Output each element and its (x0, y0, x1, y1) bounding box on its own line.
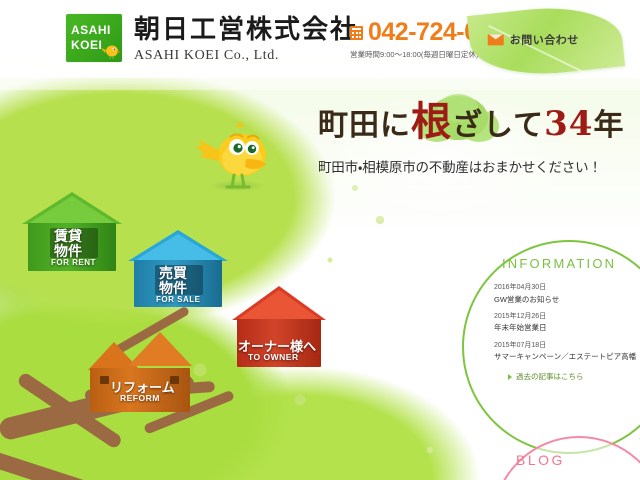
house-roof-highlight (134, 234, 222, 261)
page-root: ASAHI KOEI 朝日工営株式会社 ASAHI KOEI Co., Ltd.… (0, 0, 640, 480)
site-header: ASAHI KOEI 朝日工営株式会社 ASAHI KOEI Co., Ltd.… (0, 0, 640, 78)
news-list: 2016年04月30日 GW営業のお知らせ 2015年12月26日 年末年始営業… (494, 283, 640, 362)
hero-title-number: 34 (544, 104, 593, 144)
house-label-en: TO OWNER (248, 352, 299, 362)
bird-icon (101, 41, 121, 61)
news-item[interactable]: 2015年07月18日 サマーキャンペーン／エステートピア高幡 (494, 341, 640, 363)
telephone-icon (350, 26, 363, 40)
information-panel: INFORMATION 2016年04月30日 GW営業のお知らせ 2015年1… (494, 256, 640, 382)
company-name-en: ASAHI KOEI Co., Ltd. (134, 48, 358, 64)
mail-icon (488, 34, 504, 45)
nav-house-to-owner[interactable]: オーナー様へ TO OWNER (232, 286, 326, 370)
news-archive-link[interactable]: 過去の記事はこちら (508, 371, 640, 382)
logo-mark: ASAHI KOEI (66, 14, 122, 62)
hero-title-part2: ざして (452, 108, 544, 143)
news-archive-label: 過去の記事はこちら (516, 371, 584, 382)
information-title: INFORMATION (502, 256, 640, 271)
contact-button[interactable]: お問い合わせ (467, 0, 625, 82)
house-window-left (100, 376, 109, 384)
site-logo[interactable]: ASAHI KOEI 朝日工営株式会社 ASAHI KOEI Co., Ltd. (66, 14, 358, 64)
news-title: GW営業のお知らせ (494, 294, 640, 305)
company-name-block: 朝日工営株式会社 ASAHI KOEI Co., Ltd. (134, 14, 358, 64)
nav-house-for-rent[interactable]: 賃貸 物件 FOR RENT (22, 192, 122, 274)
house-label-en: FOR RENT (51, 258, 96, 267)
nav-house-for-sale[interactable]: 売買 物件 FOR SALE (128, 230, 228, 310)
hero-title-accent: 根 (411, 98, 452, 145)
hero-title: 町田に根ざして34年 (318, 100, 628, 144)
company-name-jp: 朝日工営株式会社 (134, 16, 358, 45)
hero-subtitle: 町田市・相模原市の不動産はおまかせください！ (318, 156, 628, 176)
house-label-en: REFORM (120, 393, 160, 403)
contact-button-label: お問い合わせ (510, 31, 579, 47)
news-date: 2016年04月30日 (494, 283, 640, 294)
house-roof (128, 332, 192, 366)
nav-house-reform[interactable]: リフォーム REFORM (88, 332, 194, 416)
news-title: 年末年始営業日 (494, 322, 640, 333)
news-item[interactable]: 2016年04月30日 GW営業のお知らせ (494, 283, 640, 305)
hero-title-part3: 年 (593, 108, 624, 143)
news-item[interactable]: 2015年12月26日 年末年始営業日 (494, 312, 640, 334)
bird-mascot-icon (196, 115, 282, 195)
news-title: サマーキャンペーン／エステートピア高幡 (494, 351, 640, 362)
house-roof-highlight (28, 196, 116, 224)
blog-label[interactable]: BLOG (516, 452, 565, 468)
hero-title-part1: 町田に (318, 108, 411, 143)
house-label-en: FOR SALE (156, 295, 200, 304)
hero-section: 町田に根ざして34年 町田市・相模原市の不動産はおまかせください！ (318, 100, 628, 176)
news-date: 2015年07月18日 (494, 341, 640, 352)
logo-text-line1: ASAHI (71, 23, 117, 37)
news-date: 2015年12月26日 (494, 312, 640, 323)
triangle-right-icon (508, 374, 512, 380)
house-roof-highlight (237, 290, 321, 320)
